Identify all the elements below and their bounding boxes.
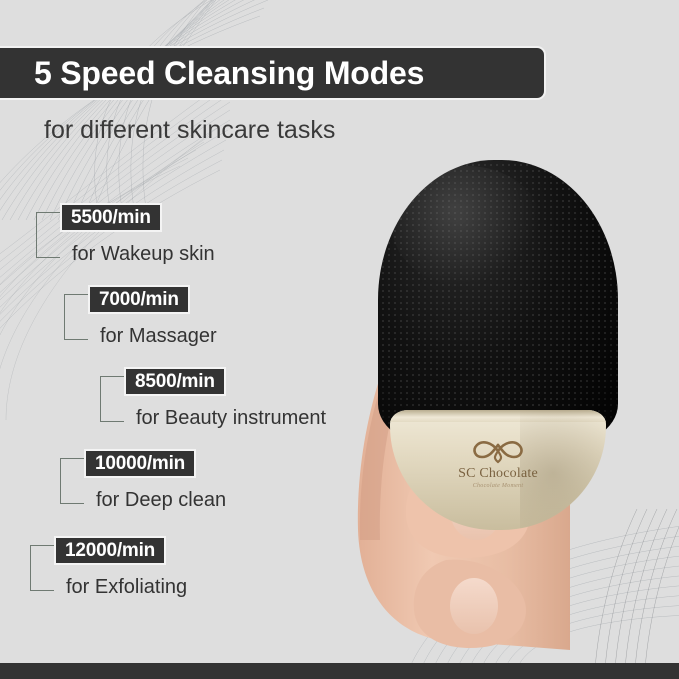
speed-description: for Exfoliating: [66, 576, 187, 599]
bracket-connector: [36, 212, 60, 258]
speed-badge: 7000/min: [88, 285, 190, 314]
speed-value: 7000/min: [99, 289, 179, 311]
speed-value: 12000/min: [65, 540, 155, 562]
speed-description: for Beauty instrument: [136, 407, 326, 430]
speed-description: for Massager: [100, 325, 217, 348]
bracket-connector: [60, 458, 84, 504]
speed-badge: 5500/min: [60, 203, 162, 232]
speed-description: for Wakeup skin: [72, 243, 215, 266]
speed-badge: 8500/min: [124, 367, 226, 396]
bracket-connector: [64, 294, 88, 340]
speed-modes-list: 5500/min for Wakeup skin 7000/min for Ma…: [0, 0, 679, 679]
speed-value: 5500/min: [71, 207, 151, 229]
speed-description: for Deep clean: [96, 489, 226, 512]
speed-value: 8500/min: [135, 371, 215, 393]
speed-value: 10000/min: [95, 453, 185, 475]
speed-badge: 12000/min: [54, 536, 166, 565]
bracket-connector: [100, 376, 124, 422]
infographic-page: SC Chocolate Chocolate Moment 5 Speed Cl…: [0, 0, 679, 679]
bracket-connector: [30, 545, 54, 591]
speed-badge: 10000/min: [84, 449, 196, 478]
